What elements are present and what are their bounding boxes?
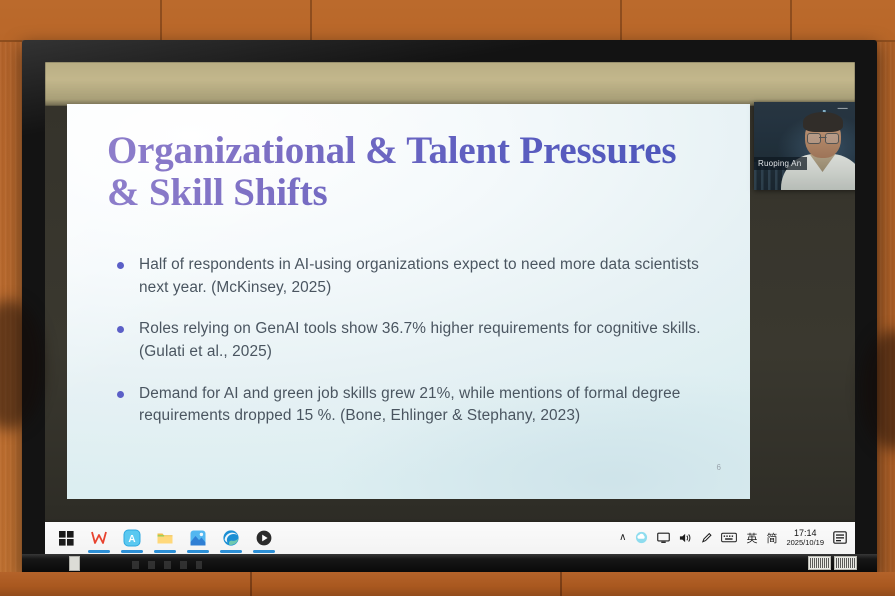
participant-hair (803, 112, 843, 132)
taskbar-item-microsoft-edge[interactable] (216, 523, 246, 553)
bullet-dot-icon (117, 262, 124, 269)
list-item: Half of respondents in AI-using organiza… (111, 254, 723, 299)
bullet-dot-icon (117, 326, 124, 333)
ime-mode-icon[interactable]: 简 (766, 530, 777, 546)
taskbar-item-file-explorer[interactable] (150, 523, 180, 553)
taskbar-item-media-player[interactable] (249, 523, 279, 553)
bullet-text: Half of respondents in AI-using organiza… (139, 256, 699, 296)
interactive-display: Organizational & Talent Pressures & Skil… (22, 40, 877, 575)
asset-label (808, 556, 831, 570)
ime-language-icon[interactable]: 英 (746, 530, 757, 546)
system-tray: ∧ (619, 529, 855, 547)
bullet-text: Demand for AI and green job skills grew … (139, 385, 680, 425)
list-item: Demand for AI and green job skills grew … (111, 383, 723, 428)
port-panel (132, 561, 202, 569)
ir-sensor (69, 556, 80, 571)
display-panel: Organizational & Talent Pressures & Skil… (45, 62, 855, 554)
taskbar-item-photos[interactable] (183, 523, 213, 553)
slide-bullet-list: Half of respondents in AI-using organiza… (111, 254, 723, 447)
video-call-window[interactable]: Ruoping An — ❐ ✕ (754, 102, 855, 190)
bullet-text: Roles relying on GenAI tools show 36.7% … (139, 320, 701, 360)
windows-taskbar: A (45, 522, 855, 554)
notification-center-icon[interactable] (833, 531, 847, 544)
pen-icon[interactable] (701, 532, 712, 544)
clock-date: 2025/10/19 (786, 539, 824, 547)
asset-label (834, 556, 857, 570)
conference-room-scene: Organizational & Talent Pressures & Skil… (0, 0, 895, 596)
bullet-dot-icon (117, 391, 124, 398)
slide-title: Organizational & Talent Pressures & Skil… (107, 130, 707, 213)
taskbar-item-ai-assistant[interactable]: A (117, 523, 147, 553)
slide-number: 6 (717, 463, 721, 472)
cloud-sync-icon[interactable] (635, 531, 648, 544)
display-settings-icon[interactable] (657, 532, 670, 544)
start-menu-button[interactable] (51, 523, 81, 553)
keyboard-icon[interactable] (721, 532, 737, 543)
participant-name-label: Ruoping An (754, 157, 807, 170)
panel-glow-band (45, 62, 855, 106)
chevron-up-icon[interactable]: ∧ (619, 532, 626, 543)
presentation-slide[interactable]: Organizational & Talent Pressures & Skil… (67, 104, 750, 499)
minimize-icon[interactable]: — (838, 104, 848, 114)
list-item: Roles relying on GenAI tools show 36.7% … (111, 318, 723, 363)
glasses-icon (807, 133, 839, 142)
credenza (0, 572, 895, 596)
wall-top-panel (0, 0, 895, 42)
svg-text:A: A (128, 534, 135, 545)
volume-icon[interactable] (679, 532, 692, 544)
window-controls: — ❐ ✕ (838, 104, 855, 114)
taskbar-item-wps-office[interactable] (84, 523, 114, 553)
taskbar-clock[interactable]: 17:14 2025/10/19 (786, 529, 824, 547)
taskbar-app-area: A (45, 523, 279, 553)
